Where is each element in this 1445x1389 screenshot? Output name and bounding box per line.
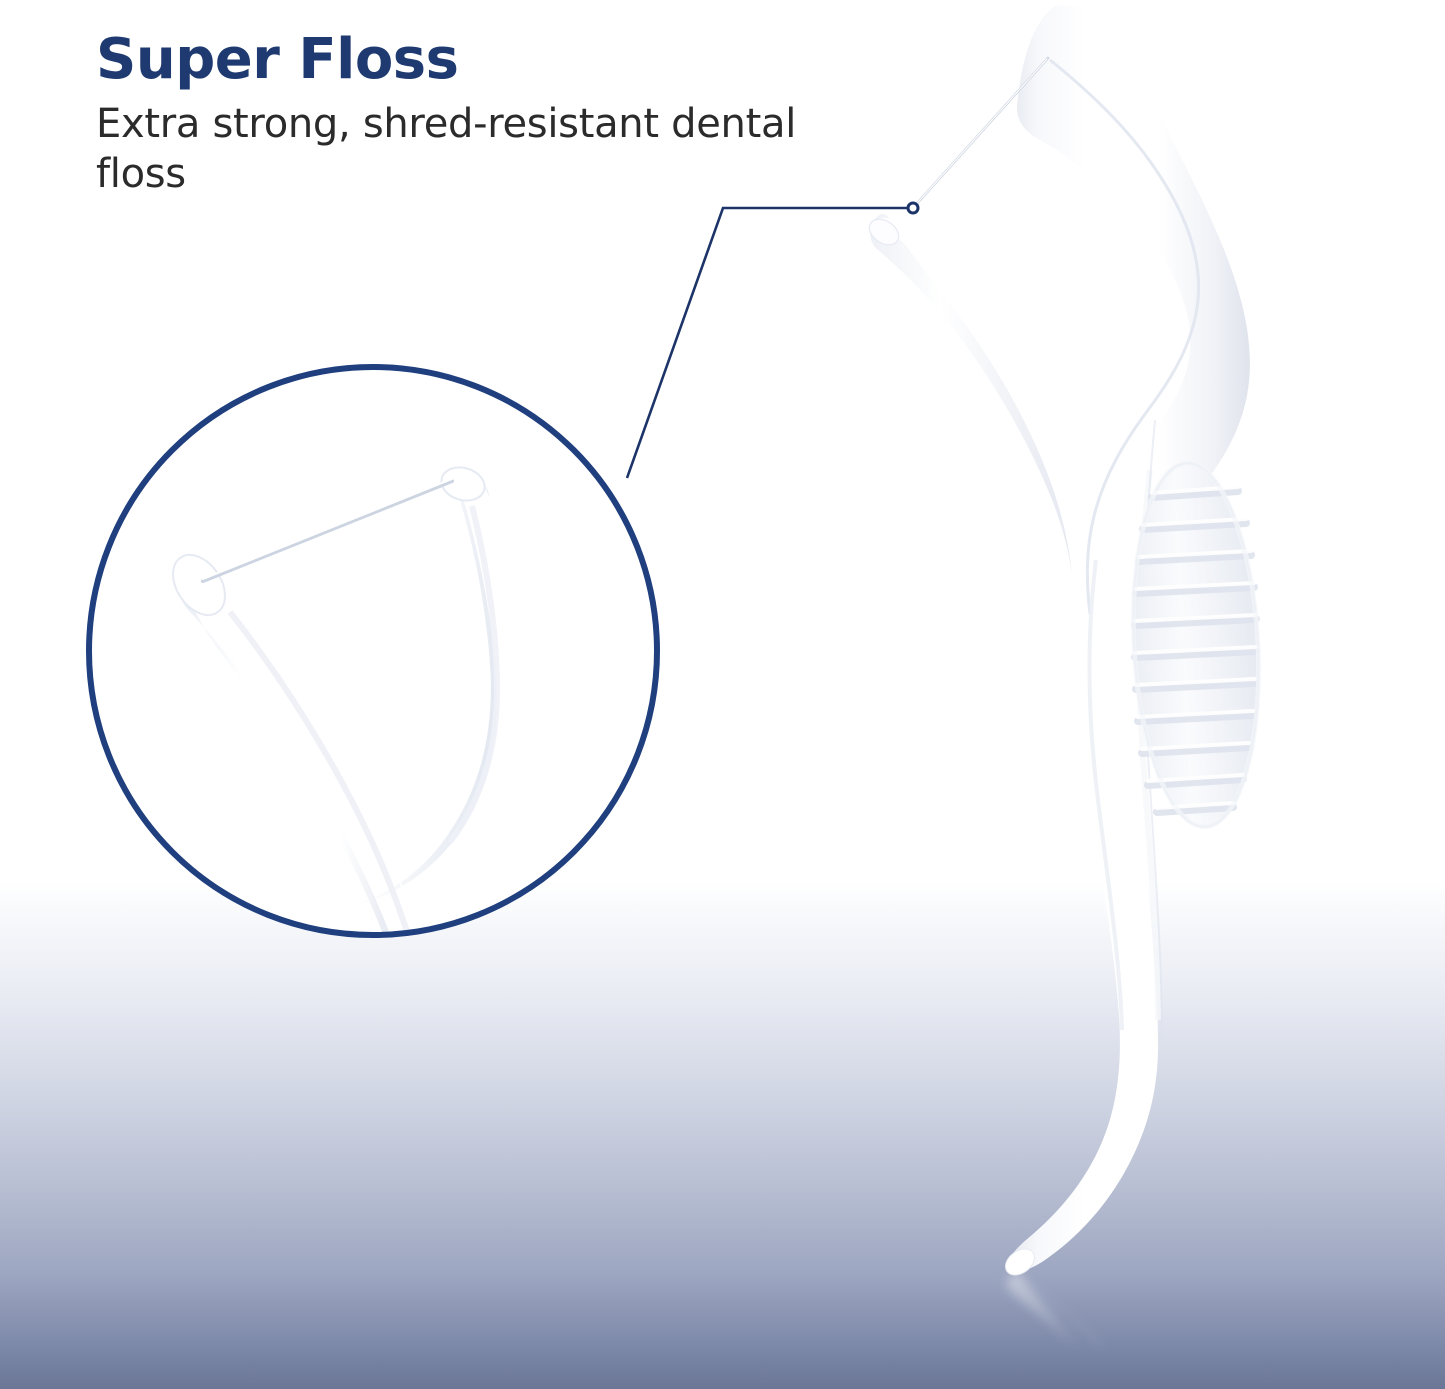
callout-line — [627, 208, 913, 478]
product-image-canvas: Super Floss Extra strong, shred-resistan… — [0, 0, 1445, 1389]
callout-leader — [0, 0, 1445, 1389]
callout-marker-dot — [908, 203, 918, 213]
page-title: Super Floss — [96, 30, 896, 89]
page-subtitle: Extra strong, shred-resistant dental flo… — [96, 99, 886, 199]
headline-block: Super Floss Extra strong, shred-resistan… — [96, 30, 896, 199]
